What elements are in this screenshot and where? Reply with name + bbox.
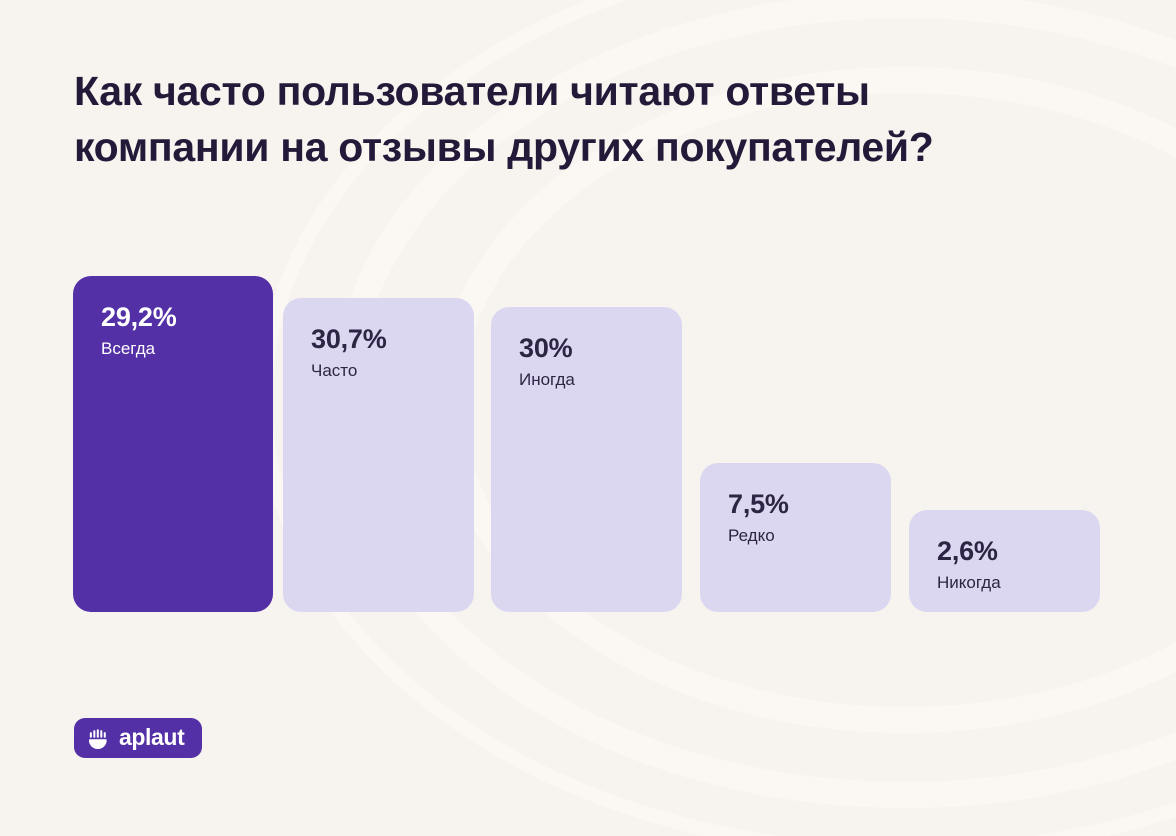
bar-inogda-content: 30% Иногда — [519, 333, 672, 390]
bar-inogda-value: 30% — [519, 333, 672, 363]
aplaut-wordmark: aplaut — [119, 726, 184, 749]
bar-nikogda[interactable]: 2,6% Никогда — [909, 510, 1100, 612]
bar-vsegda[interactable]: 29,2% Всегда — [73, 276, 273, 612]
bar-chart-plot-area: 29,2% Всегда 30,7% Часто 30% Иногда 7,5%… — [0, 0, 1176, 836]
bar-chasto-content: 30,7% Часто — [311, 324, 464, 381]
bar-nikogda-value: 2,6% — [937, 536, 1090, 566]
bar-vsegda-label: Всегда — [101, 339, 263, 359]
bar-inogda[interactable]: 30% Иногда — [491, 307, 682, 612]
bar-redko-label: Редко — [728, 526, 881, 546]
bar-inogda-label: Иногда — [519, 370, 672, 390]
bar-redko-content: 7,5% Редко — [728, 489, 881, 546]
bar-chasto[interactable]: 30,7% Часто — [283, 298, 474, 612]
bar-vsegda-value: 29,2% — [101, 302, 263, 332]
bar-redko[interactable]: 7,5% Редко — [700, 463, 891, 612]
bar-redko-value: 7,5% — [728, 489, 881, 519]
bar-chasto-label: Часто — [311, 361, 464, 381]
chart-infographic: Как часто пользователи читают ответы ком… — [0, 0, 1176, 836]
bar-nikogda-label: Никогда — [937, 573, 1090, 593]
clapping-hand-icon — [88, 727, 110, 749]
bar-nikogda-content: 2,6% Никогда — [937, 536, 1090, 593]
bar-vsegda-content: 29,2% Всегда — [101, 302, 263, 359]
bar-chasto-value: 30,7% — [311, 324, 464, 354]
aplaut-logo[interactable]: aplaut — [74, 718, 202, 758]
